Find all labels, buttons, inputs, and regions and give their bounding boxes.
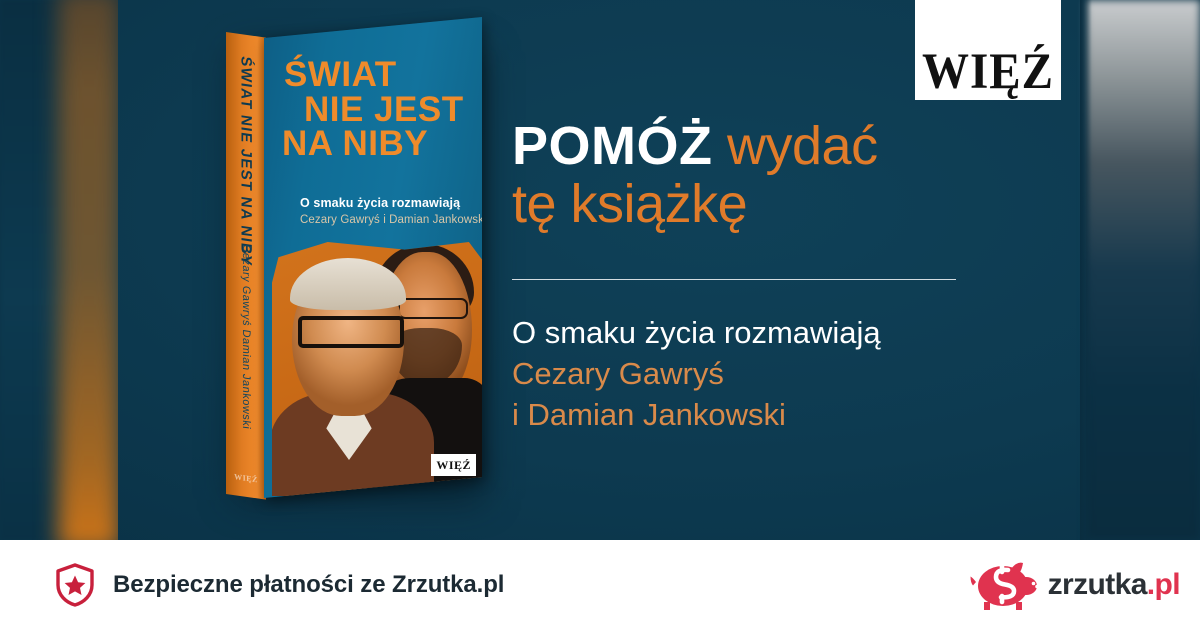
subtitle-block: O smaku życia rozmawiają Cezary Gawryś i… [512, 312, 1032, 436]
book-cover-wiez-logo: WIĘŹ [431, 454, 476, 476]
wiez-logo-text: WIĘŹ [922, 47, 1054, 98]
promo-banner: WIĘŹ ŚWIAT NIE JEST NA NIBY Cezary Gawry… [0, 0, 1200, 630]
author-line-1: Cezary Gawryś [512, 353, 1032, 394]
book-cover-authors: Cezary Gawryś i Damian Jankowski [300, 214, 482, 226]
book-mockup: ŚWIAT NIE JEST NA NIBY Cezary Gawryś Dam… [222, 28, 484, 498]
headline: POMÓŻ wydać tę książkę [512, 118, 1032, 234]
zrzutka-brand-group[interactable]: zrzutka.pl [968, 558, 1180, 612]
headline-block: POMÓŻ wydać tę książkę [512, 118, 1032, 234]
headline-strong: POMÓŻ [512, 116, 713, 176]
book-cover-subtitle: O smaku życia rozmawiają [300, 196, 480, 210]
older-man-glasses-icon [298, 316, 404, 348]
zrzutka-wordmark: zrzutka.pl [1048, 568, 1180, 602]
zrzutka-tld: .pl [1147, 568, 1180, 601]
book-cover-portrait-photo: WIĘŹ [272, 242, 482, 496]
book-spine-authors: Cezary Gawryś Damian Jankowski [240, 243, 252, 430]
book-spine-logo: WIĘŹ [234, 472, 258, 484]
younger-man-glasses-icon [398, 298, 468, 319]
zrzutka-name: zrzutka [1048, 568, 1147, 601]
piggy-bank-icon [968, 558, 1042, 612]
footer-bar: Bezpieczne płatności ze Zrzutka.pl zrzut… [0, 540, 1200, 630]
headline-divider [512, 279, 956, 280]
background-right-edge-fade [1080, 0, 1092, 540]
background-orange-blur-strip [58, 0, 120, 540]
book-cover-title: ŚWIAT NIE JEST NA NIBY [276, 58, 476, 162]
book-cover-title-line-3: NA NIBY [276, 127, 476, 162]
secure-payments-group: Bezpieczne płatności ze Zrzutka.pl [55, 563, 504, 607]
book-front-inner: ŚWIAT NIE JEST NA NIBY O smaku życia roz… [264, 36, 482, 496]
headline-accent-1: wydać [727, 116, 878, 176]
shield-star-icon [55, 563, 95, 607]
book-spine: ŚWIAT NIE JEST NA NIBY Cezary Gawryś Dam… [226, 32, 266, 500]
author-line-2: i Damian Jankowski [512, 394, 1032, 435]
hero-section: WIĘŹ ŚWIAT NIE JEST NA NIBY Cezary Gawry… [0, 0, 1200, 540]
book-cover-title-line-2: NIE JEST [276, 93, 476, 128]
wiez-publisher-logo: WIĘŹ [915, 0, 1061, 100]
headline-accent-2: tę książkę [512, 174, 747, 234]
secure-payments-text: Bezpieczne płatności ze Zrzutka.pl [113, 571, 504, 599]
subtitle-text: O smaku życia rozmawiają [512, 312, 1032, 353]
background-right-blur-strip [1086, 0, 1200, 540]
book-cover-title-line-1: ŚWIAT [276, 58, 476, 93]
book-cover-wiez-logo-text: WIĘŹ [436, 458, 471, 472]
book-front-cover: ŚWIAT NIE JEST NA NIBY O smaku życia roz… [264, 17, 482, 498]
book-spine-title: ŚWIAT NIE JEST NA NIBY [238, 55, 255, 267]
